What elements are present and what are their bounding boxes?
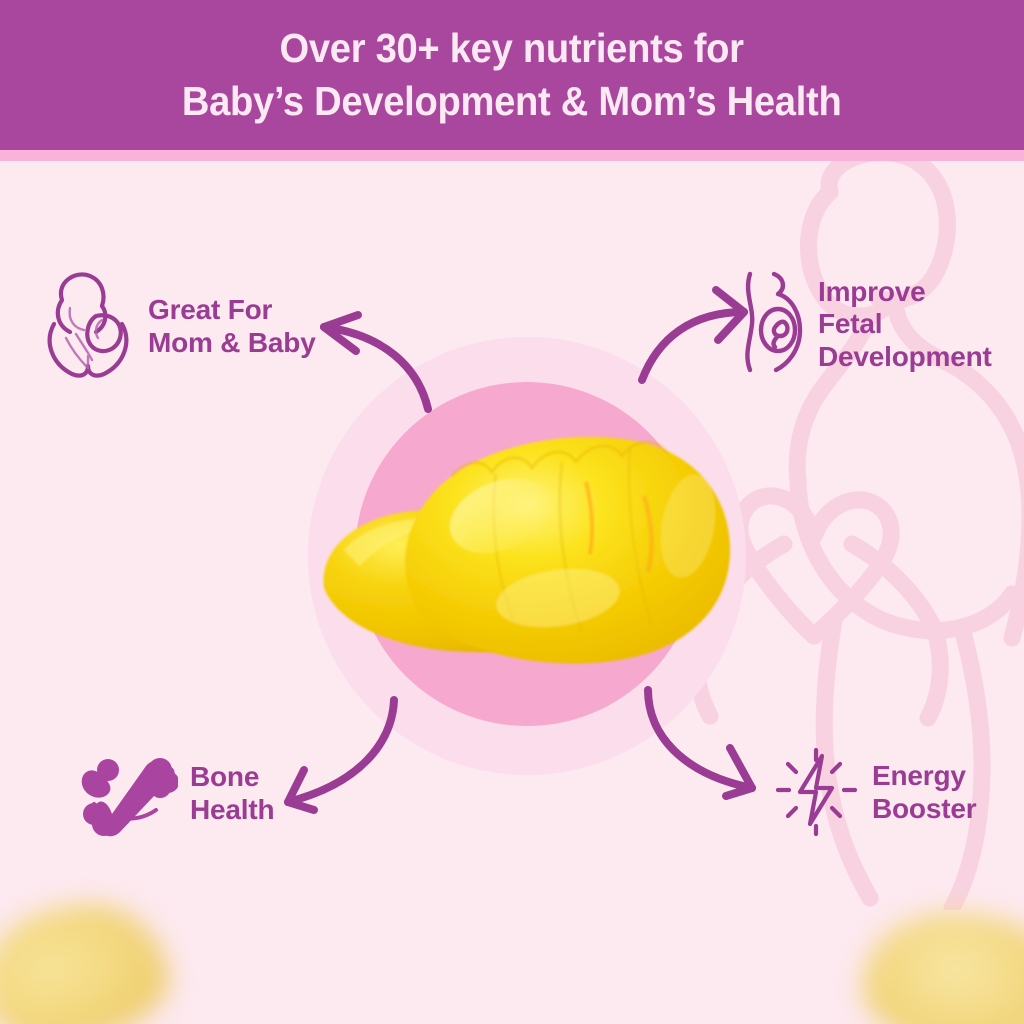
infographic-page: Great For Mom & Baby Improve Fetal Devel… [0, 0, 1024, 1024]
feature-label-fetal: Improve Fetal Development [818, 276, 992, 373]
header-line-2: Baby’s Development & Mom’s Health [182, 75, 842, 128]
mother-baby-icon [42, 268, 134, 385]
prenatal-gummies-product-image [300, 400, 750, 700]
header-accent-strip [0, 150, 1024, 161]
pregnant-belly-fetus-icon [742, 268, 806, 381]
corner-gummy-bottom-right [855, 901, 1024, 1024]
bone-icon [80, 742, 178, 845]
header-banner: Over 30+ key nutrients for Baby’s Develo… [0, 0, 1024, 150]
feature-label-energy: Energy Booster [872, 760, 976, 825]
feature-energy-booster[interactable]: Energy Booster [770, 744, 976, 841]
feature-great-for-mom-and-baby[interactable]: Great For Mom & Baby [42, 268, 316, 385]
corner-gummy-bottom-left [0, 892, 177, 1024]
lightning-bolt-icon [770, 744, 862, 841]
feature-label-bone: Bone Health [190, 761, 274, 826]
header-line-1: Over 30+ key nutrients for [280, 22, 744, 75]
feature-label-mom-baby: Great For Mom & Baby [148, 294, 316, 359]
feature-bone-health[interactable]: Bone Health [80, 742, 274, 845]
feature-improve-fetal-development[interactable]: Improve Fetal Development [742, 268, 992, 381]
